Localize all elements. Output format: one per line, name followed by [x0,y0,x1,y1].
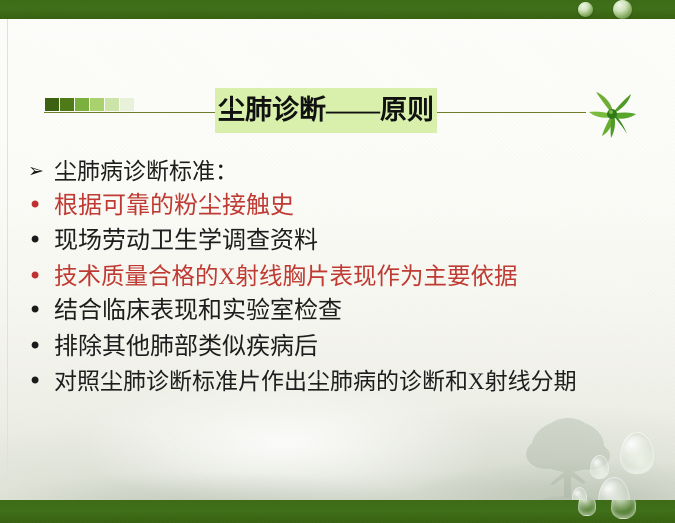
list-item: ➢ 尘肺病诊断标准： [28,158,668,186]
dot-bullet-icon: • [28,297,54,325]
color-swatch-strip [45,98,134,111]
list-item: • 对照尘肺诊断标准片作出尘肺病的诊断和X射线分期 [28,368,668,396]
slide-title-box: 尘肺诊断——原则 [215,88,437,133]
swatch-6 [120,98,134,111]
swatch-4 [90,98,104,111]
dot-bullet-icon: • [28,368,54,396]
title-rule-left [44,112,222,113]
page-title: 尘肺诊断——原则 [218,97,434,124]
water-droplet-icon [620,432,654,474]
top-accent-band [0,0,675,19]
list-item-label: 结合临床表现和实验室检查 [54,297,342,326]
water-droplet-icon [590,455,609,479]
slide-title-row: 尘肺诊断——原则 [0,88,675,138]
list-item: • 现场劳动卫生学调查资料 [28,227,668,256]
presentation-slide: 尘肺诊断——原则 ➢ 尘肺病诊断标准： [0,0,675,523]
dot-bullet-icon: • [28,333,54,361]
list-item-label: 根据可靠的粉尘接触史 [54,192,294,221]
swatch-2 [60,98,74,111]
slide-body-list: ➢ 尘肺病诊断标准： • 根据可靠的粉尘接触史 • 现场劳动卫生学调查资料 • … [28,158,668,402]
list-item-label: 尘肺病诊断标准： [54,158,238,186]
list-item: • 结合临床表现和实验室检查 [28,297,668,326]
arrow-bullet-icon: ➢ [28,158,54,186]
list-item: • 排除其他肺部类似疾病后 [28,333,668,362]
bottom-accent-band [0,500,675,523]
water-droplet-icon [611,500,636,519]
water-droplet-icon [578,500,596,516]
list-item-label: 技术质量合格的X射线胸片表现作为主要依据 [54,263,517,292]
swatch-1 [45,98,59,111]
dot-bullet-icon: • [28,192,54,220]
swatch-3 [75,98,89,111]
list-item: • 技术质量合格的X射线胸片表现作为主要依据 [28,263,668,292]
water-droplet-icon [578,2,593,17]
list-item: • 根据可靠的粉尘接触史 [28,192,668,221]
list-item-label: 对照尘肺诊断标准片作出尘肺病的诊断和X射线分期 [54,368,577,396]
title-rule-right [434,112,586,113]
list-item-label: 现场劳动卫生学调查资料 [54,227,318,256]
water-droplet-icon [613,0,632,19]
swatch-5 [105,98,119,111]
dot-bullet-icon: • [28,263,54,291]
dot-bullet-icon: • [28,227,54,255]
list-item-label: 排除其他肺部类似疾病后 [54,333,318,362]
green-leaf-cluster-icon [584,86,640,142]
